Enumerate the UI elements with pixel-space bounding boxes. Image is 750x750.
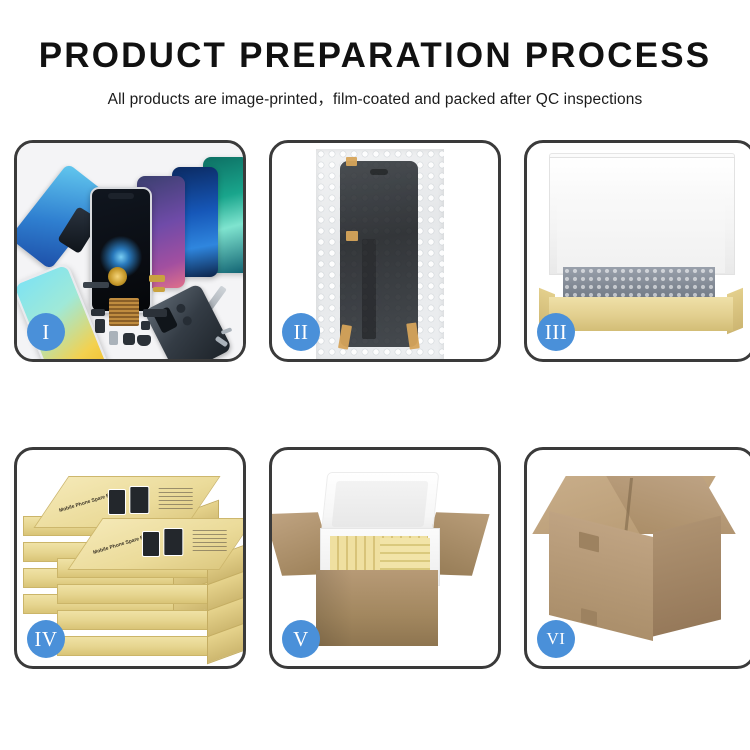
step-panel-5: V (269, 447, 501, 669)
part-ic-icon (141, 321, 150, 330)
step-badge-3: III (537, 313, 575, 351)
tape-mid-icon (346, 231, 358, 241)
step-badge-5: V (282, 620, 320, 658)
part-module-icon (95, 319, 105, 333)
step-6-illustration: VI (527, 450, 750, 666)
part-button-icon (109, 331, 118, 345)
step-panel-2: II (269, 140, 501, 362)
box-label-spec-text-icon (159, 487, 193, 509)
box-label-screen-1-icon (108, 489, 126, 515)
step-2-illustration: II (272, 143, 498, 359)
box-label-screen-1-icon (142, 531, 160, 557)
part-gold-small-icon (153, 287, 165, 292)
phone-notch-icon (108, 193, 134, 199)
part-strip-icon (83, 282, 109, 288)
phone-front-glass-icon (90, 187, 152, 313)
carton-body-icon (316, 570, 438, 646)
part-flex-cable-icon (143, 309, 167, 317)
chip-array-icon (109, 298, 139, 326)
part-speaker-icon (137, 335, 151, 346)
page-subtitle: All products are image-printed，film-coat… (0, 87, 750, 109)
box-label-spec-text-icon (193, 529, 227, 551)
lcd-screen-icon (340, 161, 418, 347)
part-connector-icon (91, 309, 105, 316)
bubble-wrapped-contents-icon (563, 267, 715, 301)
header: PRODUCT PREPARATION PROCESS All products… (0, 0, 750, 109)
box-label-screen-2-icon (163, 528, 183, 556)
box-inner-wall-icon (557, 187, 725, 273)
carton-right-face-icon (653, 516, 721, 637)
part-gold-flex-icon (149, 275, 165, 282)
step-badge-4: IV (27, 620, 65, 658)
product-preparation-infographic: PRODUCT PREPARATION PROCESS All products… (0, 0, 750, 750)
step-badge-1: I (27, 313, 65, 351)
step-5-illustration: V (272, 450, 498, 666)
step-badge-2: II (282, 313, 320, 351)
step-panel-6: VI (524, 447, 750, 669)
step-panel-4: Mobile Phone Spare Parts (14, 447, 246, 669)
foam-lid-icon (321, 472, 440, 536)
step-4-illustration: Mobile Phone Spare Parts (17, 450, 243, 666)
bubble-wrap-icon (316, 149, 444, 359)
lcd-flex-cable-icon (362, 239, 376, 339)
process-steps-grid: I II (14, 140, 736, 669)
part-camera-icon (123, 333, 135, 345)
step-1-illustration: I (17, 143, 243, 359)
box-kraft-front-icon (549, 297, 733, 331)
step-badge-6: VI (537, 620, 575, 658)
step-panel-3: III (524, 140, 750, 362)
box-label-screen-2-icon (129, 486, 149, 514)
lcd-camera-cutout-icon (370, 169, 388, 175)
speaker-coil-icon (108, 267, 127, 286)
step-panel-1: I (14, 140, 246, 362)
step-3-illustration: III (527, 143, 750, 359)
tape-top-icon (346, 157, 357, 166)
page-title: PRODUCT PREPARATION PROCESS (0, 38, 750, 73)
